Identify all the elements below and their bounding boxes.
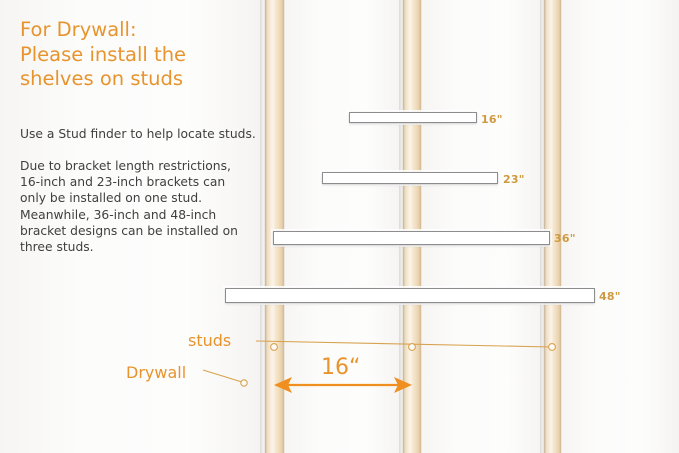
dimension-label-16: 16“: [321, 355, 360, 380]
studs-marker-stud-3: [549, 344, 556, 351]
studs-callout-label: studs: [188, 331, 231, 350]
annotation-overlay: [0, 0, 679, 453]
drywall-marker: [241, 380, 247, 386]
studs-leader-line: [256, 341, 552, 347]
studs-marker-stud-2: [409, 344, 416, 351]
drywall-instruction-diagram: For Drywall: Please install the shelves …: [0, 0, 679, 453]
drywall-callout-label: Drywall: [126, 363, 186, 382]
drywall-leader-line: [203, 370, 242, 382]
studs-marker-stud-1: [271, 344, 278, 351]
